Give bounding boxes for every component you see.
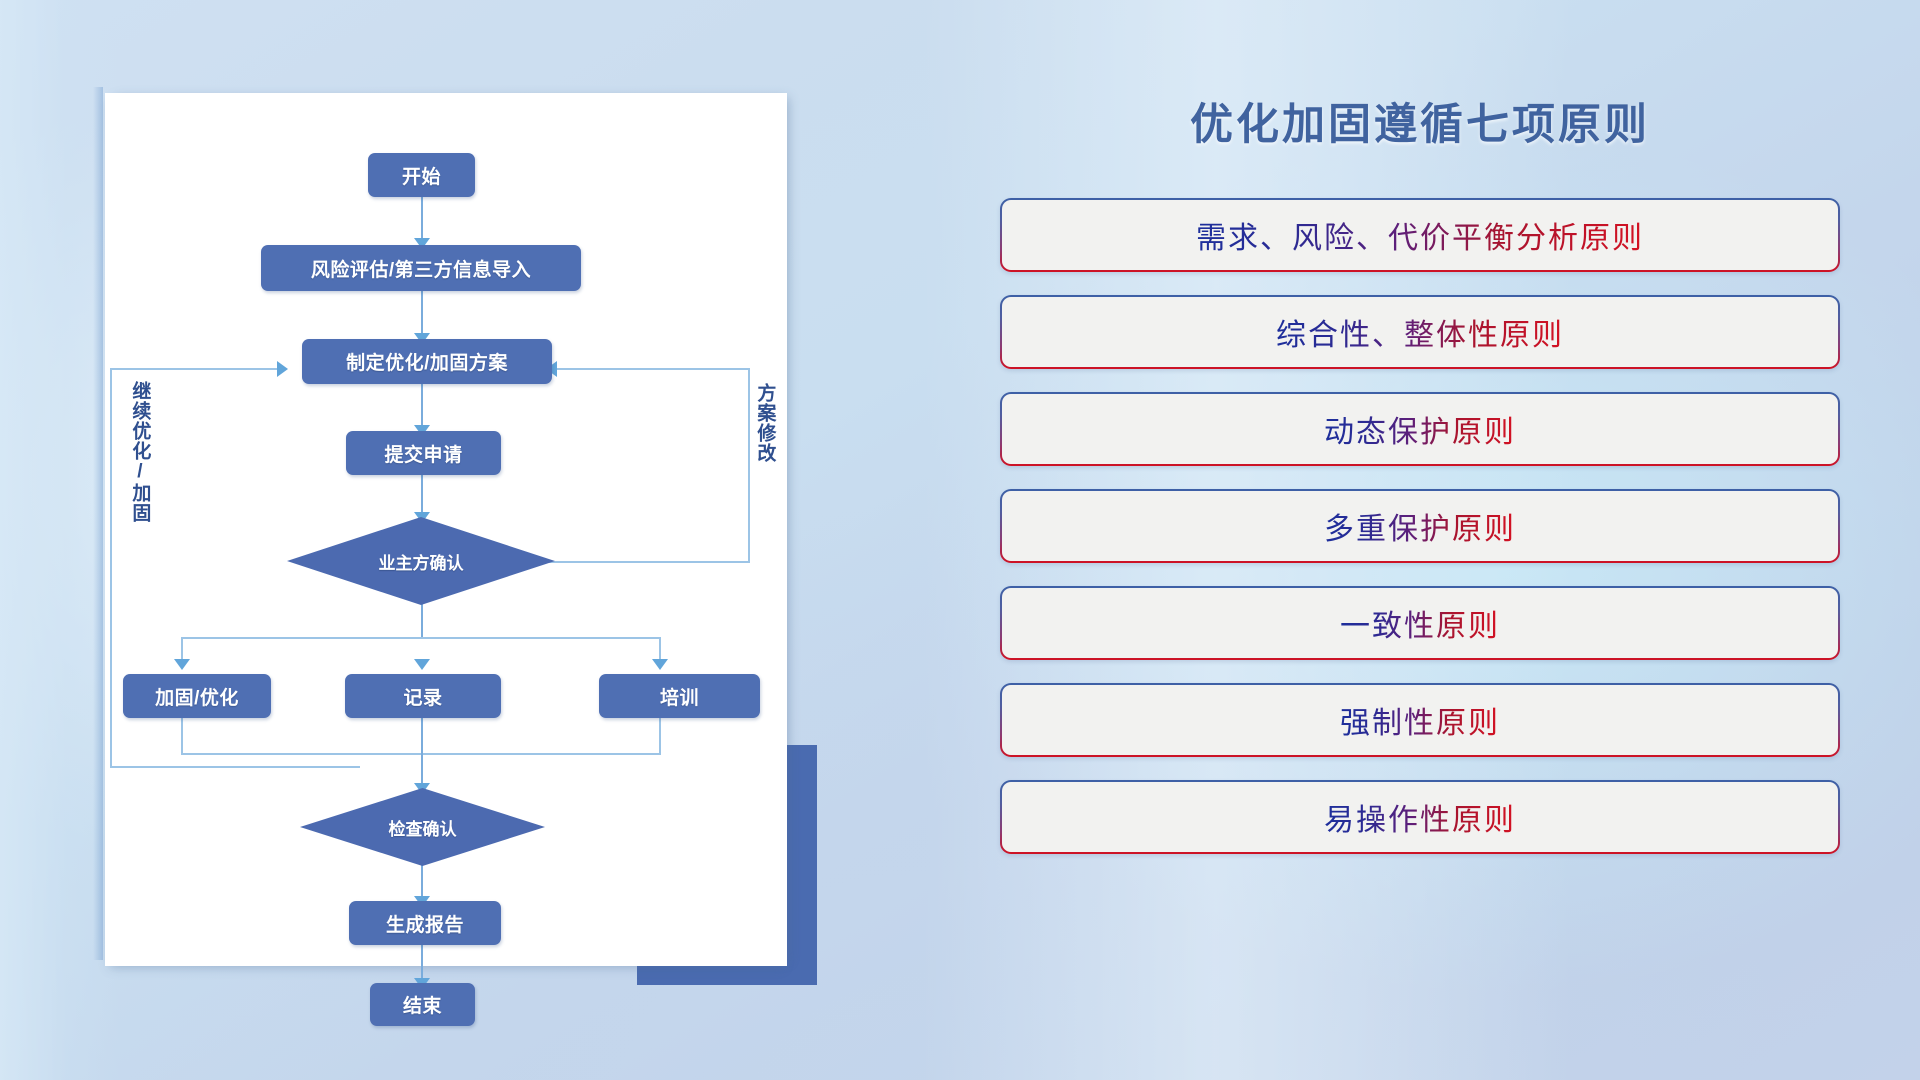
flow-node-label: 制定优化/加固方案	[346, 348, 508, 375]
flowchart-canvas: 开始 风险评估/第三方信息导入 制定优化/加固方案 提交申请 业主方确认 加固/…	[105, 93, 787, 966]
connector-owner-down	[421, 603, 423, 638]
principle-item[interactable]: 多重保护原则	[1000, 489, 1840, 563]
principle-label: 强制性原则	[1340, 698, 1500, 742]
principle-label: 一致性原则	[1340, 601, 1500, 645]
arrowhead-branch-training	[652, 659, 668, 670]
principle-item[interactable]: 需求、风险、代价平衡分析原则	[1000, 198, 1840, 272]
principle-label: 需求、风险、代价平衡分析原则	[1196, 213, 1644, 257]
flow-node-risk-assessment[interactable]: 风险评估/第三方信息导入	[261, 245, 581, 291]
flow-node-start[interactable]: 开始	[368, 153, 475, 197]
flow-node-label: 检查确认	[389, 815, 457, 840]
connector-right-into-plan	[557, 368, 750, 370]
flow-node-generate-report[interactable]: 生成报告	[349, 901, 501, 945]
flow-node-reinforce-optimize[interactable]: 加固/优化	[123, 674, 271, 718]
connector-start-risk	[421, 196, 423, 244]
connector-check-left	[110, 766, 360, 768]
edge-label-plan-revision: 方案修改	[755, 383, 774, 463]
principles-list: 需求、风险、代价平衡分析原则 综合性、整体性原则 动态保护原则 多重保护原则 一…	[1000, 198, 1840, 854]
principle-label: 综合性、整体性原则	[1276, 310, 1564, 354]
edge-label-continue-optimize: 继续优化/加固	[130, 381, 149, 523]
principle-item[interactable]: 综合性、整体性原则	[1000, 295, 1840, 369]
connector-reinforce-down	[181, 718, 183, 754]
flow-node-end[interactable]: 结束	[370, 983, 475, 1026]
connector-risk-plan	[421, 291, 423, 339]
principles-title: 优化加固遵循七项原则	[1000, 90, 1840, 152]
flow-node-label: 结束	[403, 991, 442, 1018]
connector-branch-bus	[181, 637, 661, 639]
principle-item[interactable]: 一致性原则	[1000, 586, 1840, 660]
arrowhead-branch-reinforce	[174, 659, 190, 670]
flow-node-label: 生成报告	[386, 910, 464, 937]
principle-label: 动态保护原则	[1324, 407, 1516, 451]
principle-label: 易操作性原则	[1324, 795, 1516, 839]
flowchart-card: 开始 风险评估/第三方信息导入 制定优化/加固方案 提交申请 业主方确认 加固/…	[105, 93, 787, 966]
flow-node-label: 业主方确认	[379, 549, 464, 574]
principle-label: 多重保护原则	[1324, 504, 1516, 548]
flow-node-label: 提交申请	[384, 440, 462, 467]
flow-node-owner-confirm[interactable]: 业主方确认	[287, 517, 555, 605]
principle-item[interactable]: 易操作性原则	[1000, 780, 1840, 854]
flow-node-training[interactable]: 培训	[599, 674, 760, 718]
flow-node-label: 风险评估/第三方信息导入	[311, 255, 531, 282]
principles-panel: 优化加固遵循七项原则 需求、风险、代价平衡分析原则 综合性、整体性原则 动态保护…	[1000, 90, 1840, 854]
connector-right-up	[748, 368, 750, 563]
principle-item[interactable]: 动态保护原则	[1000, 392, 1840, 466]
connector-owner-right	[545, 561, 750, 563]
arrowhead-left-into-plan	[277, 361, 288, 377]
flow-node-submit-application[interactable]: 提交申请	[346, 431, 501, 475]
flow-node-label: 记录	[403, 683, 442, 710]
connector-plan-submit	[421, 383, 423, 431]
flow-node-label: 开始	[402, 162, 441, 189]
connector-record-down	[421, 718, 423, 788]
connector-submit-owner	[421, 475, 423, 517]
principle-item[interactable]: 强制性原则	[1000, 683, 1840, 757]
flow-node-label: 加固/优化	[155, 683, 239, 710]
connector-training-down	[659, 718, 661, 754]
connector-left-up	[110, 368, 112, 768]
flow-node-plan[interactable]: 制定优化/加固方案	[302, 339, 552, 384]
flow-node-check-confirm[interactable]: 检查确认	[300, 788, 545, 866]
flow-node-record[interactable]: 记录	[345, 674, 501, 718]
flow-node-label: 培训	[660, 683, 699, 710]
connector-left-into-plan	[110, 368, 280, 370]
arrowhead-branch-record	[414, 659, 430, 670]
